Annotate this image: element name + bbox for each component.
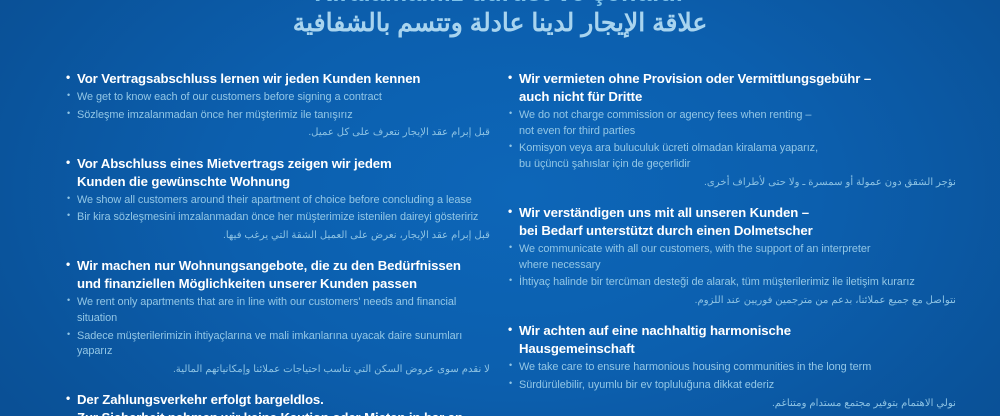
bullet-english: We rent only apartments that are in line… (66, 295, 492, 326)
bullet-turkish: İhtiyaç halinde bir tercüman desteği de … (508, 275, 958, 291)
bullet-arabic: لا نقدم سوى عروض السكن التي تناسب احتياج… (66, 362, 492, 377)
bullet-heading: Vor Abschluss eines Mietvertrags zeigen … (66, 155, 492, 191)
title-arabic: علاقة الإيجار لدينا عادلة وتتسم بالشفافي… (0, 10, 1000, 37)
content-columns: Vor Vertragsabschluss lernen wir jeden K… (0, 70, 1000, 416)
bullet-block: Vor Abschluss eines Mietvertrags zeigen … (66, 155, 492, 244)
bullet-block: Wir machen nur Wohnungsangebote, die zu … (66, 257, 492, 377)
bullet-heading: Wir vermieten ohne Provision oder Vermit… (508, 70, 958, 106)
bullet-arabic: نتواصل مع جميع عملائنا، بدعم من مترجمين … (508, 293, 958, 308)
bullet-english: We take care to ensure harmonious housin… (508, 360, 958, 376)
bullet-block: Wir verständigen uns mit all unseren Kun… (508, 204, 958, 308)
bullet-heading: Vor Vertragsabschluss lernen wir jeden K… (66, 70, 492, 88)
title-turkish: Kiralamamız dürüst ve şeffaftır (0, 0, 1000, 7)
bullet-heading: Der Zahlungsverkehr erfolgt bargeldlos. … (66, 391, 492, 416)
bullet-block: Wir vermieten ohne Provision oder Vermit… (508, 70, 958, 190)
bullet-turkish: Sadece müşterilerimizin ihtiyaçlarına ve… (66, 329, 492, 360)
right-column: Wir vermieten ohne Provision oder Vermit… (500, 70, 1000, 416)
bullet-heading: Wir verständigen uns mit all unseren Kun… (508, 204, 958, 240)
bullet-turkish: Komisyon veya ara buluculuk ücreti olmad… (508, 141, 958, 172)
bullet-arabic: قبل إبرام عقد الإيجار نتعرف على كل عميل. (66, 125, 492, 140)
bullet-block: Wir achten auf eine nachhaltig harmonisc… (508, 322, 958, 411)
bullet-turkish: Bir kira sözleşmesini imzalanmadan önce … (66, 210, 492, 226)
bullet-english: We communicate with all our customers, w… (508, 242, 958, 273)
bullet-turkish: Sözleşme imzalanmadan önce her müşterimi… (66, 108, 492, 124)
bullet-heading: Wir machen nur Wohnungsangebote, die zu … (66, 257, 492, 293)
bullet-arabic: نؤجر الشقق دون عمولة أو سمسرة ـ ولا حتى … (508, 175, 958, 190)
bullet-block: Der Zahlungsverkehr erfolgt bargeldlos. … (66, 391, 492, 416)
bullet-english: We get to know each of our customers bef… (66, 90, 492, 106)
bullet-heading: Wir achten auf eine nachhaltig harmonisc… (508, 322, 958, 358)
bullet-arabic: نولي الاهتمام بتوفير مجتمع مستدام ومتناغ… (508, 396, 958, 411)
bullet-arabic: قبل إبرام عقد الإيجار، نعرض على العميل ا… (66, 228, 492, 243)
left-column: Vor Vertragsabschluss lernen wir jeden K… (0, 70, 500, 416)
bullet-english: We do not charge commission or agency fe… (508, 108, 958, 139)
bullet-english: We show all customers around their apart… (66, 193, 492, 209)
bullet-block: Vor Vertragsabschluss lernen wir jeden K… (66, 70, 492, 141)
bullet-turkish: Sürdürülebilir, uyumlu bir ev topluluğun… (508, 378, 958, 394)
slide-titles: Kiralamamız dürüst ve şeffaftır علاقة ال… (0, 0, 1000, 37)
slide-root: Kiralamamız dürüst ve şeffaftır علاقة ال… (0, 0, 1000, 416)
